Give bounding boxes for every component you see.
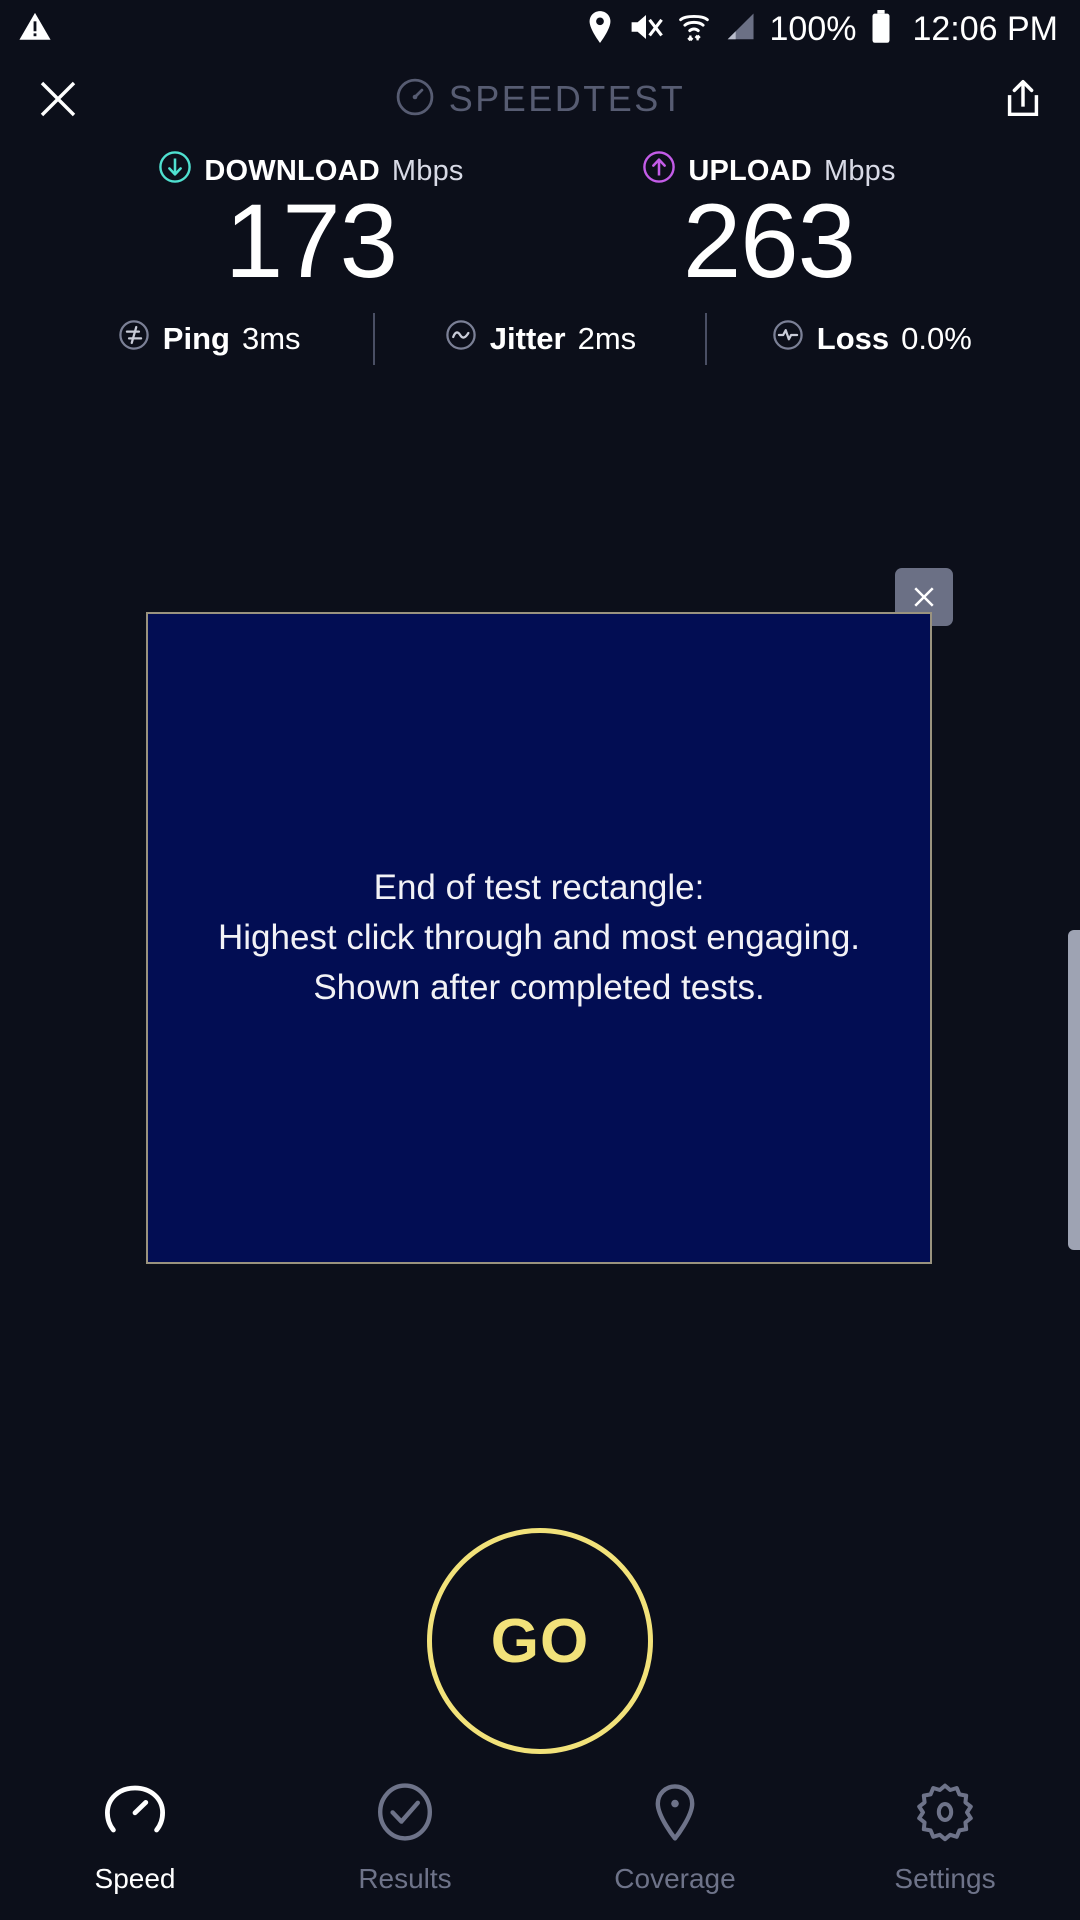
wifi-icon	[678, 10, 710, 49]
arrow-down-circle-icon	[158, 150, 192, 192]
jitter-icon	[444, 318, 478, 360]
loss-icon	[771, 318, 805, 360]
upload-value: 263	[683, 188, 855, 295]
close-icon	[909, 582, 939, 612]
results-summary: DOWNLOAD Mbps 173 UPLOAD Mbps 263	[0, 140, 1080, 365]
bottom-navigation: Speed Results Coverage Settings	[0, 1760, 1080, 1920]
nav-item-settings[interactable]: Settings	[810, 1782, 1080, 1895]
location-pin-icon	[586, 10, 614, 49]
status-bar: 100% 12:06 PM	[0, 0, 1080, 58]
go-button[interactable]: GO	[427, 1528, 653, 1754]
app-header: SPEEDTEST	[0, 58, 1080, 140]
arrow-up-circle-icon	[642, 150, 676, 192]
warning-triangle-icon	[18, 10, 52, 49]
speedometer-icon	[395, 77, 435, 122]
speedometer-icon	[105, 1782, 165, 1847]
share-button[interactable]	[1000, 76, 1046, 122]
nav-label-results: Results	[358, 1863, 451, 1895]
jitter-label: Jitter	[490, 321, 566, 357]
close-icon	[34, 75, 82, 123]
ad-banner[interactable]: End of test rectangle: Highest click thr…	[146, 612, 932, 1264]
ping-value: 3ms	[242, 321, 301, 357]
ad-line-3: Shown after completed tests.	[218, 963, 860, 1013]
location-pin-icon	[645, 1782, 705, 1847]
download-value: 173	[225, 188, 397, 295]
download-metric: DOWNLOAD Mbps 173	[121, 150, 501, 295]
status-bar-left	[18, 10, 52, 49]
loss-stat: Loss 0.0%	[707, 318, 1036, 360]
volume-muted-icon	[628, 10, 664, 49]
loss-label: Loss	[817, 321, 889, 357]
jitter-stat: Jitter 2ms	[375, 318, 704, 360]
ad-text: End of test rectangle: Highest click thr…	[204, 863, 874, 1012]
nav-item-coverage[interactable]: Coverage	[540, 1782, 810, 1895]
ping-icon	[117, 318, 151, 360]
gear-icon	[915, 1782, 975, 1847]
ping-label: Ping	[163, 321, 230, 357]
brand-title: SPEEDTEST	[449, 78, 686, 120]
battery-percent-label: 100%	[770, 10, 857, 49]
status-bar-clock: 12:06 PM	[912, 10, 1058, 49]
ping-jitter-loss-row: Ping 3ms Jitter 2ms Loss 0.0	[0, 313, 1080, 365]
loss-value: 0.0%	[901, 321, 972, 357]
ping-stat: Ping 3ms	[44, 318, 373, 360]
share-icon	[1000, 76, 1046, 122]
cellular-signal-icon	[724, 11, 756, 48]
jitter-value: 2ms	[578, 321, 637, 357]
download-unit: Mbps	[392, 155, 464, 188]
brand-logo: SPEEDTEST	[0, 77, 1080, 122]
battery-full-icon	[870, 10, 892, 49]
go-button-container: GO	[0, 1528, 1080, 1754]
ad-line-1: End of test rectangle:	[218, 863, 860, 913]
nav-label-settings: Settings	[894, 1863, 995, 1895]
ad-line-2: Highest click through and most engaging.	[218, 913, 860, 963]
nav-item-speed[interactable]: Speed	[0, 1782, 270, 1895]
status-bar-right: 100% 12:06 PM	[586, 10, 1059, 49]
nav-item-results[interactable]: Results	[270, 1782, 540, 1895]
scrollbar[interactable]	[1068, 930, 1080, 1250]
upload-metric: UPLOAD Mbps 263	[579, 150, 959, 295]
check-circle-icon	[375, 1782, 435, 1847]
nav-label-coverage: Coverage	[614, 1863, 735, 1895]
advertisement-container: End of test rectangle: Highest click thr…	[0, 556, 1080, 1256]
nav-label-speed: Speed	[95, 1863, 176, 1895]
download-upload-row: DOWNLOAD Mbps 173 UPLOAD Mbps 263	[0, 150, 1080, 295]
go-button-label: GO	[491, 1606, 589, 1677]
close-button[interactable]	[34, 75, 82, 123]
